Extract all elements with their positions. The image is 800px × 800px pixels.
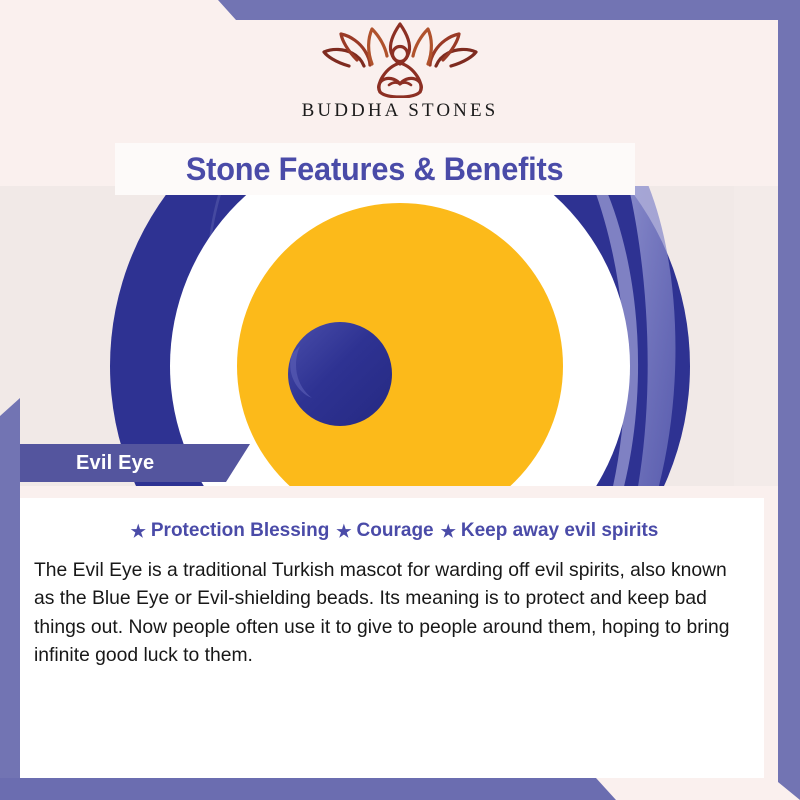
stone-name-banner: Evil Eye [18, 444, 250, 482]
benefit-item-2: ★ Keep away evil spirits [434, 520, 659, 542]
brand-name: BUDDHA STONES [302, 100, 499, 122]
benefit-item-0: ★ Protection Blessing [124, 520, 330, 542]
benefit-label-2: Keep away evil spirits [461, 520, 659, 542]
infographic-canvas: BUDDHA STONES Stone Features & Benefits [0, 0, 800, 800]
stone-description: The Evil Eye is a traditional Turkish ma… [34, 556, 743, 669]
benefit-label-1: Courage [357, 520, 434, 542]
decoration-right-bar [778, 0, 800, 800]
decoration-left-bar [0, 398, 20, 800]
content-card: ★ Protection Blessing ★ Courage ★ Keep a… [18, 498, 764, 778]
star-icon: ★ [336, 523, 351, 540]
header: BUDDHA STONES [0, 0, 800, 148]
decoration-bottom-bar [0, 778, 800, 800]
hero-image [0, 186, 800, 486]
evil-eye-graphic [0, 186, 800, 486]
lotus-meditation-icon [315, 18, 485, 98]
brand-logo: BUDDHA STONES [302, 18, 499, 122]
star-icon: ★ [131, 523, 146, 540]
benefit-item-1: ★ Courage [329, 520, 433, 542]
page-title: Stone Features & Benefits [186, 151, 564, 188]
benefit-label-0: Protection Blessing [151, 520, 329, 542]
title-band: Stone Features & Benefits [115, 143, 635, 195]
stone-name-label: Evil Eye [76, 452, 154, 475]
star-icon: ★ [441, 523, 456, 540]
benefits-row: ★ Protection Blessing ★ Courage ★ Keep a… [18, 520, 764, 542]
